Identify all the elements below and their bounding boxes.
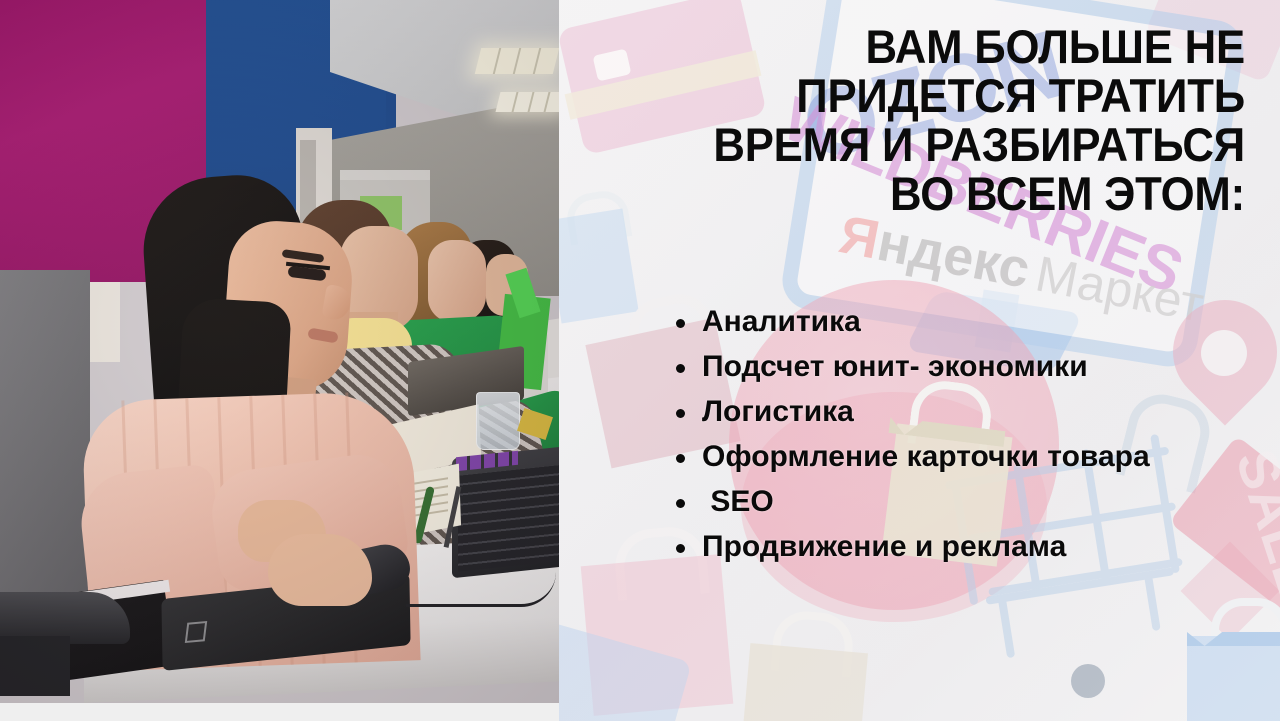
feature-list: Аналитика Подсчет юнит- экономики Логист… bbox=[668, 306, 1268, 576]
list-item: SEO bbox=[668, 486, 1268, 518]
list-item: Аналитика bbox=[668, 306, 1268, 338]
photo-bottom-strip bbox=[0, 703, 559, 721]
office-photo: uccessa bbox=[0, 0, 559, 703]
list-item: Продвижение и реклама bbox=[668, 531, 1268, 563]
headline-line-2: ПРИДЕТСЯ ТРАТИТЬ bbox=[668, 71, 1245, 120]
page-title: ВАМ БОЛЬШЕ НЕ ПРИДЕТСЯ ТРАТИТЬ ВРЕМЯ И Р… bbox=[668, 22, 1245, 218]
list-item: Логистика bbox=[668, 396, 1268, 428]
headline-line-4: ВО ВСЕМ ЭТОМ: bbox=[668, 169, 1245, 218]
photo-vignette bbox=[0, 0, 559, 703]
headline-line-3: ВРЕМЯ И РАЗБИРАТЬСЯ bbox=[668, 120, 1245, 169]
list-item: Подсчет юнит- экономики bbox=[668, 351, 1268, 383]
slide-canvas: uccessa OZON WILDBERRIES ЯндексМаркет bbox=[0, 0, 1280, 721]
list-item: Оформление карточки товара bbox=[668, 441, 1268, 473]
headline-line-1: ВАМ БОЛЬШЕ НЕ bbox=[668, 22, 1245, 71]
